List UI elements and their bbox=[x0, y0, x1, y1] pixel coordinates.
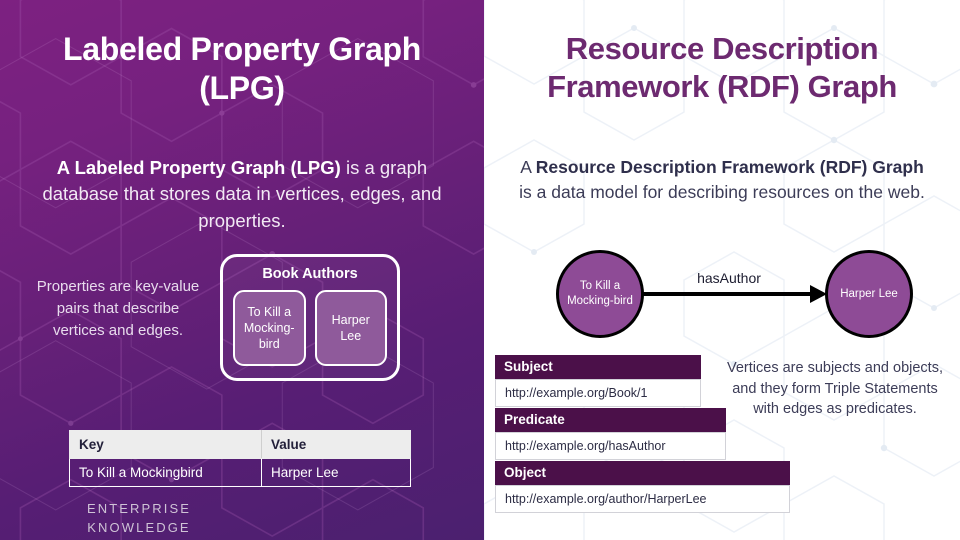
key-value-table: Key Value To Kill a Mockingbird Harper L… bbox=[69, 430, 411, 487]
triple-predicate-header: Predicate bbox=[495, 408, 726, 432]
book-authors-node-row: To Kill a Mocking-bird Harper Lee bbox=[233, 290, 387, 366]
rdf-intro-rest: is a data model for describing resources… bbox=[519, 182, 925, 202]
rdf-intro-prefix: A bbox=[520, 157, 536, 177]
enterprise-knowledge-logo: ENTERPRISE KNOWLEDGE bbox=[54, 500, 224, 538]
cell-value: Harper Lee bbox=[262, 459, 411, 487]
column-header-value: Value bbox=[262, 431, 411, 459]
lpg-intro-bold: A Labeled Property Graph (LPG) bbox=[57, 157, 341, 178]
book-authors-card: Book Authors To Kill a Mocking-bird Harp… bbox=[220, 254, 400, 381]
rdf-object-node: Harper Lee bbox=[825, 250, 913, 338]
rdf-panel: Resource Description Framework (RDF) Gra… bbox=[484, 0, 960, 540]
infographic-slide: Labeled Property Graph (LPG) A Labeled P… bbox=[0, 0, 960, 540]
triple-subject: Subject http://example.org/Book/1 bbox=[495, 355, 701, 407]
rdf-title: Resource Description Framework (RDF) Gra… bbox=[490, 30, 954, 107]
lpg-panel: Labeled Property Graph (LPG) A Labeled P… bbox=[0, 0, 484, 540]
table-header-row: Key Value bbox=[70, 431, 411, 459]
triple-object-header: Object bbox=[495, 461, 790, 485]
triple-predicate-value: http://example.org/hasAuthor bbox=[495, 432, 726, 460]
column-header-key: Key bbox=[70, 431, 262, 459]
rdf-subject-node: To Kill a Mocking-bird bbox=[556, 250, 644, 338]
key-value-table-head: Key Value bbox=[70, 431, 411, 459]
key-value-table-body: To Kill a Mockingbird Harper Lee bbox=[70, 459, 411, 487]
lpg-intro: A Labeled Property Graph (LPG) is a grap… bbox=[32, 155, 452, 234]
lpg-vertex-book: To Kill a Mocking-bird bbox=[233, 290, 306, 366]
rdf-edge-label: hasAuthor bbox=[649, 270, 809, 286]
rdf-intro-bold: Resource Description Framework (RDF) Gra… bbox=[536, 157, 924, 177]
triple-predicate: Predicate http://example.org/hasAuthor bbox=[495, 408, 726, 460]
triple-object-value: http://example.org/author/HarperLee bbox=[495, 485, 790, 513]
triple-object: Object http://example.org/author/HarperL… bbox=[495, 461, 790, 513]
triple-subject-header: Subject bbox=[495, 355, 701, 379]
table-row: To Kill a Mockingbird Harper Lee bbox=[70, 459, 411, 487]
rdf-edge-line bbox=[643, 292, 815, 296]
lpg-title: Labeled Property Graph (LPG) bbox=[18, 30, 466, 108]
rdf-vertices-note: Vertices are subjects and objects, and t… bbox=[724, 358, 946, 420]
lpg-vertex-author: Harper Lee bbox=[315, 290, 388, 366]
book-authors-card-title: Book Authors bbox=[233, 266, 387, 282]
rdf-graph-diagram: To Kill a Mocking-bird hasAuthor Harper … bbox=[524, 244, 954, 348]
cell-key: To Kill a Mockingbird bbox=[70, 459, 262, 487]
triple-subject-value: http://example.org/Book/1 bbox=[495, 379, 701, 407]
lpg-properties-note: Properties are key-value pairs that desc… bbox=[30, 276, 206, 342]
rdf-intro: A Resource Description Framework (RDF) G… bbox=[514, 155, 930, 204]
